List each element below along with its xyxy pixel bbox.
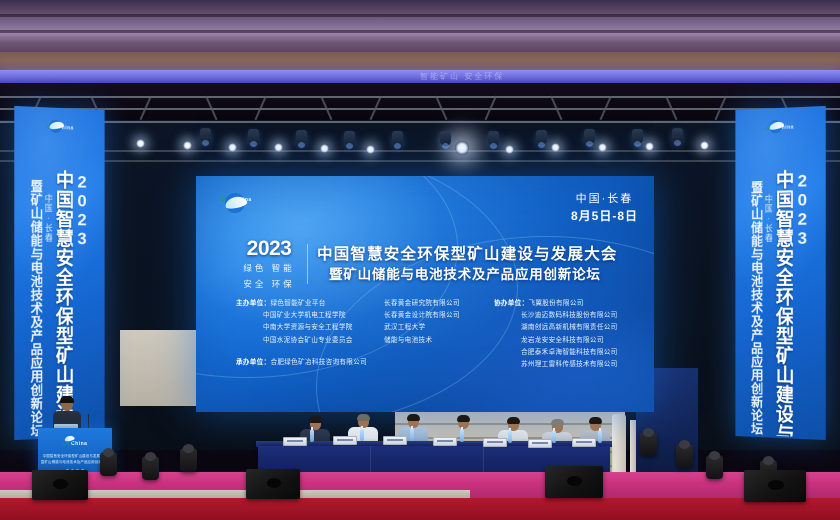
podium-logo: GIM China — [63, 432, 88, 450]
stage-spotlight-bright — [455, 141, 469, 155]
stage-spotlight — [274, 143, 283, 152]
stage-spotlight — [645, 142, 654, 151]
lower-truss — [0, 150, 840, 172]
moving-head-light — [632, 129, 643, 144]
banner-right-city: 中国·长春 — [764, 170, 773, 435]
title-divider — [307, 244, 308, 284]
led-strip-text: 智能矿山 安全环保 — [420, 71, 504, 82]
red-carpet — [0, 498, 840, 520]
coorganizer-item: 湖南创远高新机械有限责任公司 — [494, 322, 640, 334]
moving-head-light — [584, 129, 595, 144]
banner-left-subtitle: 暨矿山储能与电池技术及产品应用创新论坛 — [29, 169, 42, 437]
banner-right-subtitle: 暨矿山储能与电池技术及产品应用创新论坛 — [750, 170, 763, 435]
banner-right: GIM China 2023 中国智慧安全环保型矿山建设与发展大会 中国·长春 … — [735, 106, 825, 440]
nameplate — [572, 438, 596, 447]
banner-left-city: 中国·长春 — [43, 170, 52, 437]
ceiling-beam — [0, 30, 840, 33]
stage-monitor-speaker — [32, 470, 88, 500]
moving-head-light — [392, 131, 403, 146]
stage-monitor-speaker — [744, 470, 806, 502]
host-item: 中国水泥协会矿山专业委员会 — [236, 335, 384, 347]
stage-spotlight — [505, 145, 514, 154]
water-bottle — [508, 431, 512, 443]
host-column-2: 长春黄金研究院有限公司 长春黄金设计院有限公司 武汉工程大学 储能与电池技术 — [384, 298, 494, 371]
coorganizer-item: 长沙迪迈数码科技股份有限公司 — [494, 310, 640, 322]
nameplate — [433, 437, 457, 446]
coorganizer-item: 龙岩龙安安全科技有限公司 — [494, 335, 640, 347]
coorganizer-column: 协办单位：飞翼股份有限公司 长沙迪迈数码科技股份有限公司 湖南创远高新机械有限责… — [494, 298, 640, 371]
undertaker-name: 合肥绿色矿冶科技咨询有限公司 — [270, 359, 367, 366]
stage-spotlight — [366, 145, 375, 154]
moving-head-light — [440, 131, 451, 146]
undertaker-label: 承办单位： — [236, 359, 270, 366]
water-bottle — [460, 430, 464, 442]
floor-moving-light — [100, 452, 117, 476]
stage-spotlight — [228, 143, 237, 152]
panelist-head — [458, 417, 469, 429]
gim-logo-icon: GIM China — [46, 115, 74, 134]
coorganizer-label: 协办单位： — [494, 300, 528, 307]
event-dates: 8月5日-8日 — [571, 208, 638, 225]
event-titles: 中国智慧安全环保型矿山建设与发展大会 暨矿山储能与电池技术及产品应用创新论坛 — [317, 245, 634, 284]
stage-monitor-speaker — [545, 466, 603, 498]
banner-right-title: 中国智慧安全环保型矿山建设与发展大会 — [773, 170, 792, 437]
water-bottle — [552, 431, 556, 443]
stage-spotlight — [700, 141, 709, 150]
moving-head-light — [200, 128, 211, 143]
stage-monitor-speaker — [246, 469, 300, 499]
lighting-truss — [0, 96, 840, 126]
moving-head-light — [248, 129, 259, 144]
floor-moving-light — [180, 448, 197, 472]
nameplate — [333, 436, 357, 445]
ceiling-beam — [0, 14, 840, 17]
host-item: 武汉工程大学 — [384, 322, 494, 334]
event-year-block: 2023 绿色 智能 安全 环保 — [240, 238, 298, 291]
screen-title-row: 2023 绿色 智能 安全 环保 中国智慧安全环保型矿山建设与发展大会 暨矿山储… — [240, 238, 634, 291]
water-bottle — [410, 429, 414, 441]
host-label: 主办单位： — [236, 300, 270, 307]
banner-left-logo: GIM China — [37, 115, 82, 135]
event-year: 2023 — [240, 238, 298, 259]
moving-head-light — [536, 130, 547, 145]
panelist-head — [408, 416, 419, 428]
coorganizer-item: 飞翼股份有限公司 — [528, 300, 583, 307]
event-slogan-line1: 绿色 智能 — [240, 262, 298, 275]
moving-head-light — [296, 130, 307, 145]
event-location: 中国·长春 — [571, 192, 638, 208]
nameplate — [383, 436, 407, 445]
ceiling-led-strip: 智能矿山 安全环保 — [0, 70, 840, 83]
water-bottle — [360, 429, 364, 441]
host-item: 储能与电池技术 — [384, 335, 494, 347]
nameplate — [283, 437, 307, 446]
main-led-screen: GIM China 中国·长春 8月5日-8日 2023 绿色 智能 安全 环保… — [196, 176, 654, 412]
moving-head-light — [344, 131, 355, 146]
host-item: 长春黄金设计院有限公司 — [384, 310, 494, 322]
conference-stage-photo: 智能矿山 安全环保 — [0, 0, 840, 520]
floor-moving-light — [706, 455, 723, 479]
moving-head-light — [488, 131, 499, 146]
gim-logo-icon: GIM China — [766, 115, 794, 134]
water-bottle — [598, 431, 602, 443]
floor-moving-light — [640, 432, 657, 456]
host-item: 中国矿业大学机电工程学院 — [236, 310, 384, 322]
nameplate — [483, 438, 507, 447]
event-location-date: 中国·长春 8月5日-8日 — [571, 192, 638, 225]
banner-right-logo: GIM China — [758, 115, 803, 135]
gim-logo-icon: GIM China — [63, 432, 88, 450]
stage-spotlight — [598, 143, 607, 152]
moving-head-light — [672, 128, 683, 143]
water-bottle — [310, 430, 314, 442]
stage-spotlight — [551, 143, 560, 152]
gim-logo-icon: GIM China — [220, 188, 251, 206]
event-title-primary: 中国智慧安全环保型矿山建设与发展大会 — [317, 245, 634, 264]
event-title-secondary: 暨矿山储能与电池技术及产品应用创新论坛 — [317, 266, 634, 284]
coorganizer-item: 苏州理工雷科传感技术有限公司 — [494, 359, 640, 371]
stage-spotlight — [136, 139, 145, 148]
floor-moving-light — [142, 456, 159, 480]
screen-logo: GIM China — [210, 188, 262, 206]
stage-spotlight — [320, 144, 329, 153]
host-item: 中南大学资源与安全工程学院 — [236, 322, 384, 334]
coorganizer-item: 合肥泰禾卓海智能科技有限公司 — [494, 347, 640, 359]
speaker-head — [61, 398, 73, 411]
undertaker-row: 承办单位：合肥绿色矿冶科技咨询有限公司 — [236, 356, 367, 366]
stage-spotlight — [183, 141, 192, 150]
event-slogan-line2: 安全 环保 — [240, 278, 298, 291]
host-item: 长春黄金研究院有限公司 — [384, 298, 494, 310]
banner-left-year: 2023 — [73, 170, 90, 435]
panelist-head — [358, 416, 369, 428]
banner-right-year: 2023 — [794, 169, 811, 437]
floor-moving-light — [676, 444, 693, 468]
host-item: 绿色智能矿业平台 — [270, 300, 325, 307]
nameplate — [528, 439, 552, 448]
banner-left: GIM China 2023 中国智慧安全环保型矿山建设与发展大会 中国·长春 … — [14, 106, 104, 440]
